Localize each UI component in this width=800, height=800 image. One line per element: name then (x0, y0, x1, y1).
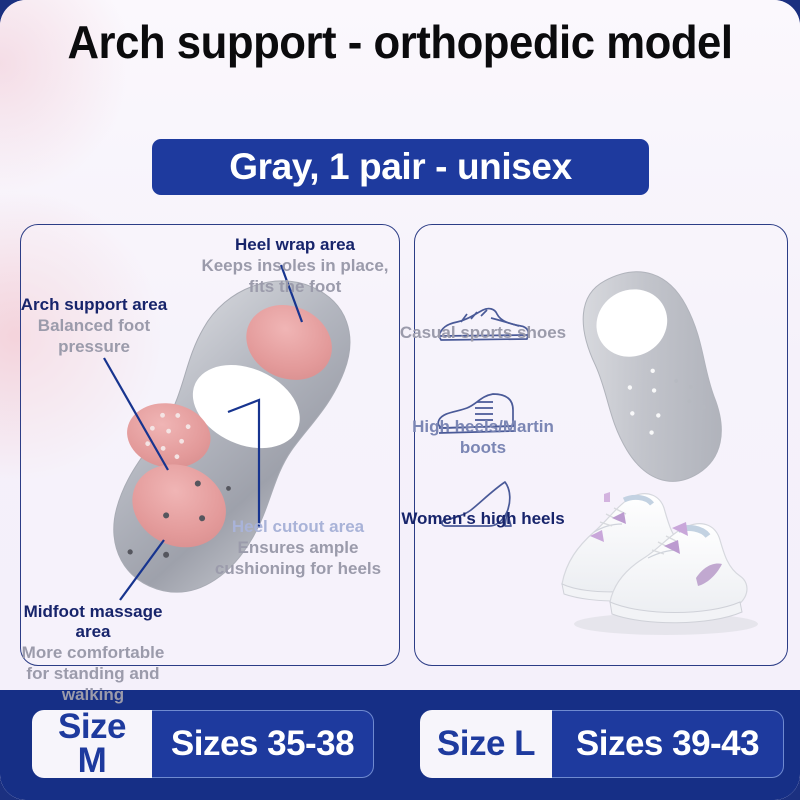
shoe-type-boots: High heels/Martin boots (398, 390, 568, 458)
callout-title: Heel wrap area (190, 235, 400, 255)
size-range-m: Sizes 35-38 (152, 710, 374, 778)
callout-subtitle: Balanced foot pressure (14, 315, 174, 357)
size-option-m[interactable]: Size M Sizes 35-38 (32, 710, 374, 778)
size-label-l: Size L (420, 710, 552, 778)
sneaker-photo (548, 466, 778, 646)
insole-product-image (556, 262, 756, 492)
callout-subtitle: Ensures ample cushioning for heels (198, 537, 398, 579)
shoe-type-label: Women's high heels (398, 508, 568, 529)
shoe-type-label: High heels/Martin boots (398, 416, 568, 458)
size-label-m: Size M (32, 710, 152, 778)
callout-title: Arch support area (14, 295, 174, 315)
callout-heel-cutout: Heel cutout area Ensures ample cushionin… (198, 517, 398, 579)
callout-arch-support: Arch support area Balanced foot pressure (14, 295, 174, 357)
callout-midfoot-massage: Midfoot massage area More comfortable fo… (8, 602, 178, 705)
callout-heel-wrap: Heel wrap area Keeps insoles in place, f… (190, 235, 400, 297)
size-range-l: Sizes 39-43 (552, 710, 784, 778)
callout-title: Midfoot massage area (8, 602, 178, 642)
shoe-type-heels: Women's high heels (398, 478, 568, 529)
shoe-type-label: Casual sports shoes (398, 322, 568, 343)
size-option-l[interactable]: Size L Sizes 39-43 (420, 710, 784, 778)
callout-subtitle: Keeps insoles in place, fits the foot (190, 255, 400, 297)
callout-title: Heel cutout area (198, 517, 398, 537)
callout-subtitle: More comfortable for standing and walkin… (8, 642, 178, 705)
product-infographic: Arch support - orthopedic model Gray, 1 … (0, 0, 800, 800)
shoe-type-casual: Casual sports shoes (398, 300, 568, 343)
